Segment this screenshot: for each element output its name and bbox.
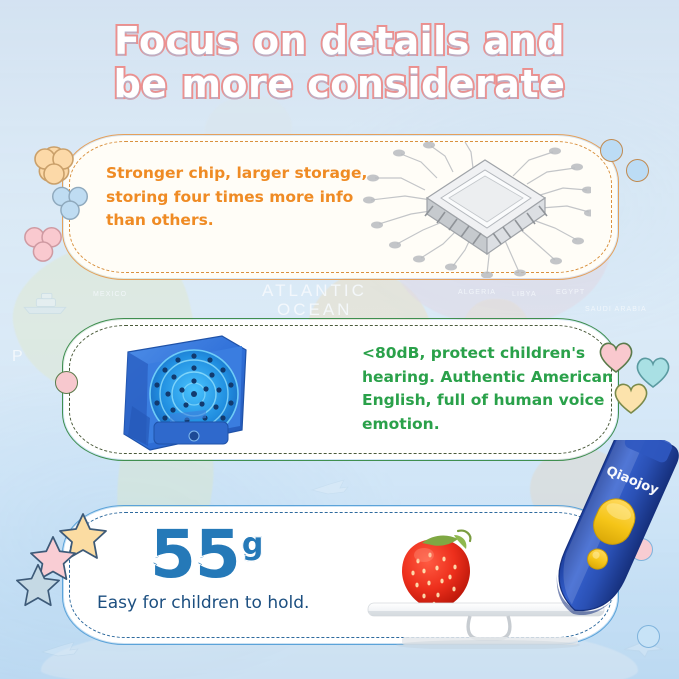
audio-feature-text: <80dB, protect children's hearing. Authe… — [362, 342, 622, 436]
boat-icon — [18, 290, 72, 316]
circle-blue-1-icon — [600, 139, 623, 162]
reading-pen-icon: Qiaojoy — [525, 440, 679, 630]
weight-number: 55 — [150, 523, 240, 587]
infographic-page: ATLANTIC OCEAN MEXICO ALGERIA LIBYA EGYP… — [0, 0, 679, 679]
map-label-mexico: MEXICO — [93, 291, 127, 298]
map-label-algeria: ALGERIA — [458, 289, 496, 296]
clover-pink-icon — [20, 222, 66, 264]
map-label-saudi-arabia: SAUDI ARABIA — [585, 306, 647, 313]
feature-card-chip: Stronger chip, larger storage, storing f… — [62, 134, 619, 280]
star-blue-icon — [14, 562, 62, 608]
plane-icon-2 — [310, 478, 350, 500]
map-label-libya: LIBYA — [512, 291, 537, 298]
chip-feature-text: Stronger chip, larger storage, storing f… — [106, 162, 406, 233]
map-label-egypt: EGYPT — [556, 289, 585, 296]
clover-blue-icon — [48, 182, 92, 222]
circle-pink-1-icon — [55, 371, 78, 394]
circle-blue-2-icon — [626, 159, 649, 182]
weight-caption: Easy for children to hold. — [97, 593, 309, 613]
weight-unit: g — [242, 527, 263, 562]
speaker-module-icon — [110, 326, 260, 456]
title-line-1: Focus on details and — [0, 20, 679, 63]
page-title: Focus on details and be more considerate — [0, 20, 679, 106]
heart-pink-icon — [597, 340, 635, 374]
title-line-2: be more considerate — [0, 63, 679, 106]
clover-orange-icon — [30, 143, 78, 187]
map-label-atlantic: ATLANTIC — [262, 281, 367, 301]
map-label-p: P — [12, 348, 26, 366]
map-label-ocean: OCEAN — [277, 300, 352, 320]
weight-value: 55 g — [150, 523, 263, 587]
heart-yellow-icon — [612, 381, 650, 415]
